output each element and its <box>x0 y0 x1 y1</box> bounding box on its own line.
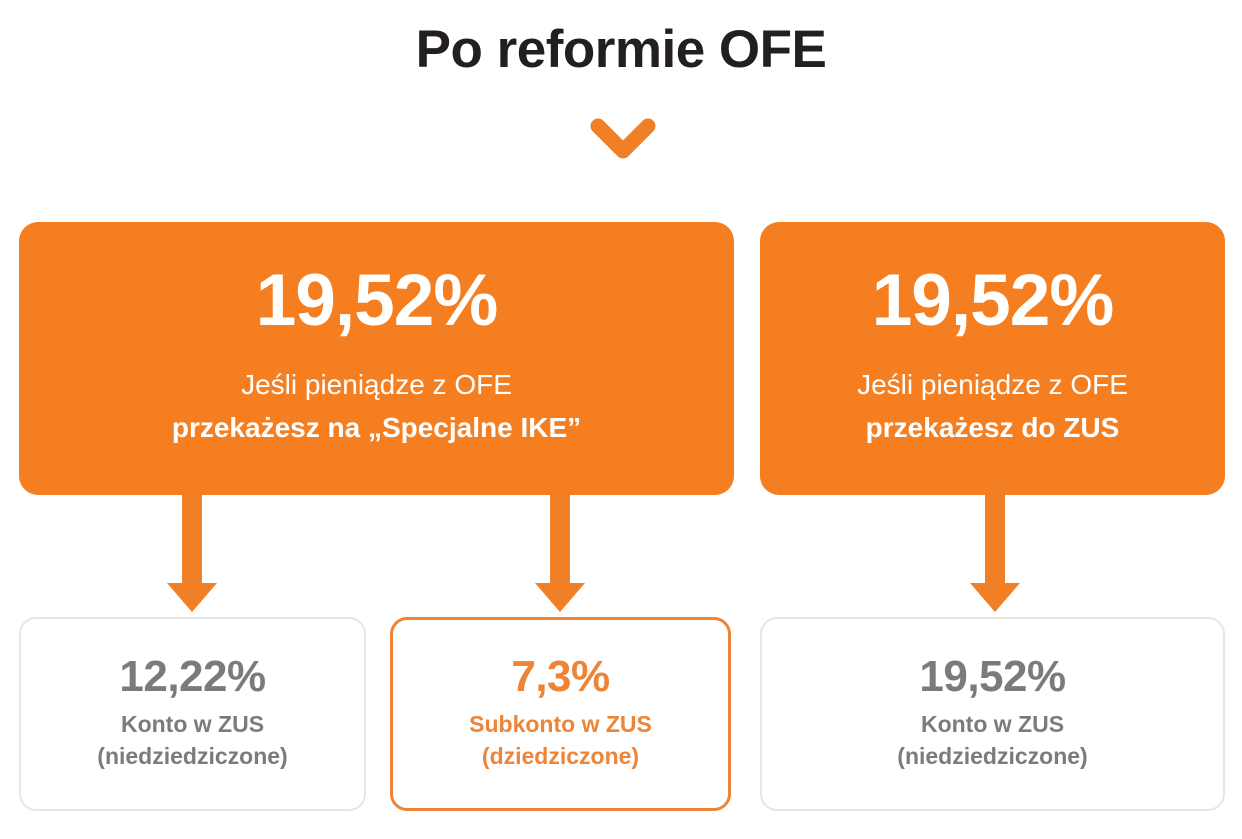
chevron-down-icon <box>590 118 656 164</box>
box-percent: 19,52% <box>919 655 1065 699</box>
card-percent: 19,52% <box>256 264 498 337</box>
box-subkonto-w-zus[interactable]: 7,3% Subkonto w ZUS (dziedziczone) <box>390 617 731 811</box>
box-percent: 7,3% <box>511 655 609 699</box>
box-label-line-1: Konto w ZUS <box>921 709 1064 741</box>
arrow-down-icon-ike-subkonto <box>530 490 590 615</box>
arrow-down-icon-zus-konto <box>965 490 1025 615</box>
box-konto-w-zus[interactable]: 19,52% Konto w ZUS (niedziedziczone) <box>760 617 1225 811</box>
infographic-root: Po reformie OFE 19,52% Jeśli pieniądze z… <box>0 0 1242 839</box>
box-percent: 12,22% <box>119 655 265 699</box>
box-label-line-2: (dziedziczone) <box>482 741 639 773</box>
card-zus[interactable]: 19,52% Jeśli pieniądze z OFE przekażesz … <box>760 222 1225 495</box>
box-label-line-1: Konto w ZUS <box>121 709 264 741</box>
box-label-line-2: (niedziedziczone) <box>897 741 1087 773</box>
card-text-line-1: Jeśli pieniądze z OFE <box>241 367 512 403</box>
card-specjalne-ike[interactable]: 19,52% Jeśli pieniądze z OFE przekażesz … <box>19 222 734 495</box>
card-percent: 19,52% <box>872 264 1114 337</box>
box-label-line-1: Subkonto w ZUS <box>469 709 652 741</box>
arrow-down-icon-ike-konto <box>162 490 222 615</box>
box-konto-w-zus-ike[interactable]: 12,22% Konto w ZUS (niedziedziczone) <box>19 617 366 811</box>
card-text-line-2: przekażesz do ZUS <box>866 410 1120 446</box>
page-title: Po reformie OFE <box>0 22 1242 78</box>
card-text-line-2: przekażesz na „Specjalne IKE” <box>172 410 581 446</box>
card-text-line-1: Jeśli pieniądze z OFE <box>857 367 1128 403</box>
box-label-line-2: (niedziedziczone) <box>97 741 287 773</box>
